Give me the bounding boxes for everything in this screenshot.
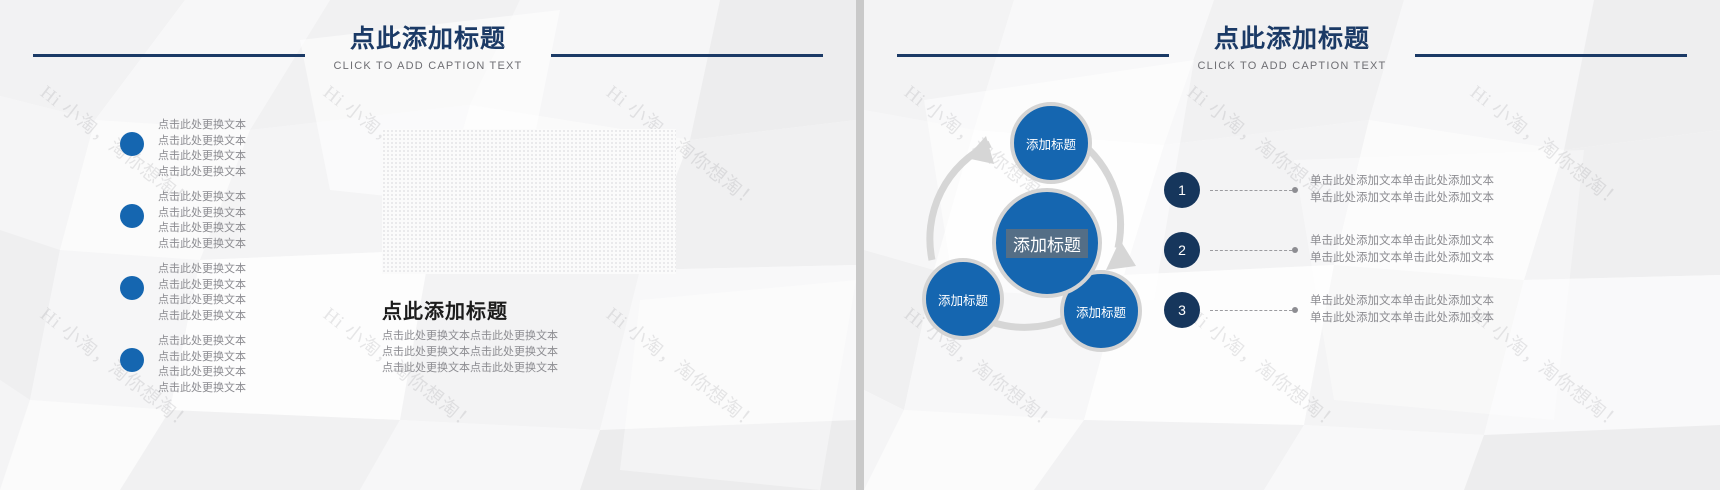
caption-body: 点击此处更换文本点击此处更换文本 点击此处更换文本点击此处更换文本 点击此处更换…: [382, 328, 558, 376]
bullet-line: 点击此处更换文本: [158, 278, 246, 294]
cycle-node-center[interactable]: 添加标题: [992, 188, 1102, 298]
header-rule-right: [1415, 54, 1687, 57]
list-item[interactable]: 1 单击此处添加文本单击此处添加文本 单击此处添加文本单击此处添加文本: [1164, 160, 1709, 220]
step-line: 单击此处添加文本单击此处添加文本: [1310, 173, 1494, 190]
bullet-line: 点击此处更换文本: [158, 309, 246, 325]
bullet-line: 点击此处更换文本: [158, 381, 246, 397]
page-subtitle: CLICK TO ADD CAPTION TEXT: [864, 60, 1720, 72]
step-number-badge: 2: [1164, 232, 1200, 268]
cycle-node-label: 添加标题: [1026, 134, 1076, 153]
slide-header-right: 点此添加标题 CLICK TO ADD CAPTION TEXT: [864, 24, 1720, 88]
numbered-list: 1 单击此处添加文本单击此处添加文本 单击此处添加文本单击此处添加文本 2 单击…: [1164, 160, 1709, 340]
bullet-dot-icon: [120, 276, 144, 300]
bullet-list: 点击此处更换文本 点击此处更换文本 点击此处更换文本 点击此处更换文本 点击此处…: [120, 118, 340, 406]
bullet-dot-icon: [120, 132, 144, 156]
bullet-text: 点击此处更换文本 点击此处更换文本 点击此处更换文本 点击此处更换文本: [158, 334, 246, 396]
bullet-text: 点击此处更换文本 点击此处更换文本 点击此处更换文本 点击此处更换文本: [158, 190, 246, 252]
page-title: 点此添加标题: [0, 24, 856, 54]
bullet-line: 点击此处更换文本: [158, 221, 246, 237]
step-number-badge: 3: [1164, 292, 1200, 328]
step-line: 单击此处添加文本单击此处添加文本: [1310, 190, 1494, 207]
step-line: 单击此处添加文本单击此处添加文本: [1310, 293, 1494, 310]
slide-header-left: 点此添加标题 CLICK TO ADD CAPTION TEXT: [0, 24, 856, 88]
watermark: Hi 小淘，淘你想淘！: [601, 300, 765, 436]
page-title: 点此添加标题: [864, 24, 1720, 54]
bullet-text: 点击此处更换文本 点击此处更换文本 点击此处更换文本 点击此处更换文本: [158, 262, 246, 324]
header-rule-left: [33, 54, 305, 57]
caption-line: 点击此处更换文本点击此处更换文本: [382, 344, 558, 360]
bullet-line: 点击此处更换文本: [158, 118, 246, 134]
page-subtitle: CLICK TO ADD CAPTION TEXT: [0, 60, 856, 72]
header-rule-right: [551, 54, 823, 57]
step-text: 单击此处添加文本单击此处添加文本 单击此处添加文本单击此处添加文本: [1310, 233, 1494, 267]
bullet-line: 点击此处更换文本: [158, 293, 246, 309]
header-rule-left: [897, 54, 1169, 57]
connector-line-icon: [1210, 247, 1298, 254]
step-number-badge: 1: [1164, 172, 1200, 208]
bullet-line: 点击此处更换文本: [158, 190, 246, 206]
list-item[interactable]: 点击此处更换文本 点击此处更换文本 点击此处更换文本 点击此处更换文本: [120, 262, 340, 324]
step-text: 单击此处添加文本单击此处添加文本 单击此处添加文本单击此处添加文本: [1310, 293, 1494, 327]
caption-title: 点此添加标题: [382, 295, 508, 324]
bullet-line: 点击此处更换文本: [158, 262, 246, 278]
slide-left: Hi 小淘，淘你想淘！ Hi 小淘，淘你想淘！ Hi 小淘，淘你想淘！ Hi 小…: [0, 0, 856, 490]
bullet-line: 点击此处更换文本: [158, 334, 246, 350]
step-text: 单击此处添加文本单击此处添加文本 单击此处添加文本单击此处添加文本: [1310, 173, 1494, 207]
cycle-center-label: 添加标题: [1006, 229, 1088, 258]
bullet-line: 点击此处更换文本: [158, 206, 246, 222]
bullet-line: 点击此处更换文本: [158, 134, 246, 150]
cycle-node-label: 添加标题: [1076, 302, 1126, 321]
step-line: 单击此处添加文本单击此处添加文本: [1310, 310, 1494, 327]
list-item[interactable]: 点击此处更换文本 点击此处更换文本 点击此处更换文本 点击此处更换文本: [120, 190, 340, 252]
connector-line-icon: [1210, 187, 1298, 194]
bullet-line: 点击此处更换文本: [158, 350, 246, 366]
cycle-node-bottom-left[interactable]: 添加标题: [922, 258, 1004, 340]
bullet-dot-icon: [120, 348, 144, 372]
list-item[interactable]: 点击此处更换文本 点击此处更换文本 点击此处更换文本 点击此处更换文本: [120, 118, 340, 180]
list-item[interactable]: 2 单击此处添加文本单击此处添加文本 单击此处添加文本单击此处添加文本: [1164, 220, 1709, 280]
slide-deck: Hi 小淘，淘你想淘！ Hi 小淘，淘你想淘！ Hi 小淘，淘你想淘！ Hi 小…: [0, 0, 1720, 490]
cycle-diagram: 添加标题 添加标题 添加标题 添加标题: [874, 80, 1194, 380]
step-line: 单击此处添加文本单击此处添加文本: [1310, 250, 1494, 267]
slide-right: Hi 小淘，淘你想淘！ Hi 小淘，淘你想淘！ Hi 小淘，淘你想淘！ Hi 小…: [864, 0, 1720, 490]
step-line: 单击此处添加文本单击此处添加文本: [1310, 233, 1494, 250]
bullet-line: 点击此处更换文本: [158, 149, 246, 165]
bullet-text: 点击此处更换文本 点击此处更换文本 点击此处更换文本 点击此处更换文本: [158, 118, 246, 180]
bullet-dot-icon: [120, 204, 144, 228]
list-item[interactable]: 点击此处更换文本 点击此处更换文本 点击此处更换文本 点击此处更换文本: [120, 334, 340, 396]
cycle-node-top[interactable]: 添加标题: [1010, 102, 1092, 184]
bullet-line: 点击此处更换文本: [158, 365, 246, 381]
caption-line: 点击此处更换文本点击此处更换文本: [382, 360, 558, 376]
connector-line-icon: [1210, 307, 1298, 314]
bullet-line: 点击此处更换文本: [158, 165, 246, 181]
list-item[interactable]: 3 单击此处添加文本单击此处添加文本 单击此处添加文本单击此处添加文本: [1164, 280, 1709, 340]
caption-line: 点击此处更换文本点击此处更换文本: [382, 328, 558, 344]
image-placeholder[interactable]: [382, 129, 676, 274]
cycle-node-label: 添加标题: [938, 290, 988, 309]
bullet-line: 点击此处更换文本: [158, 237, 246, 253]
